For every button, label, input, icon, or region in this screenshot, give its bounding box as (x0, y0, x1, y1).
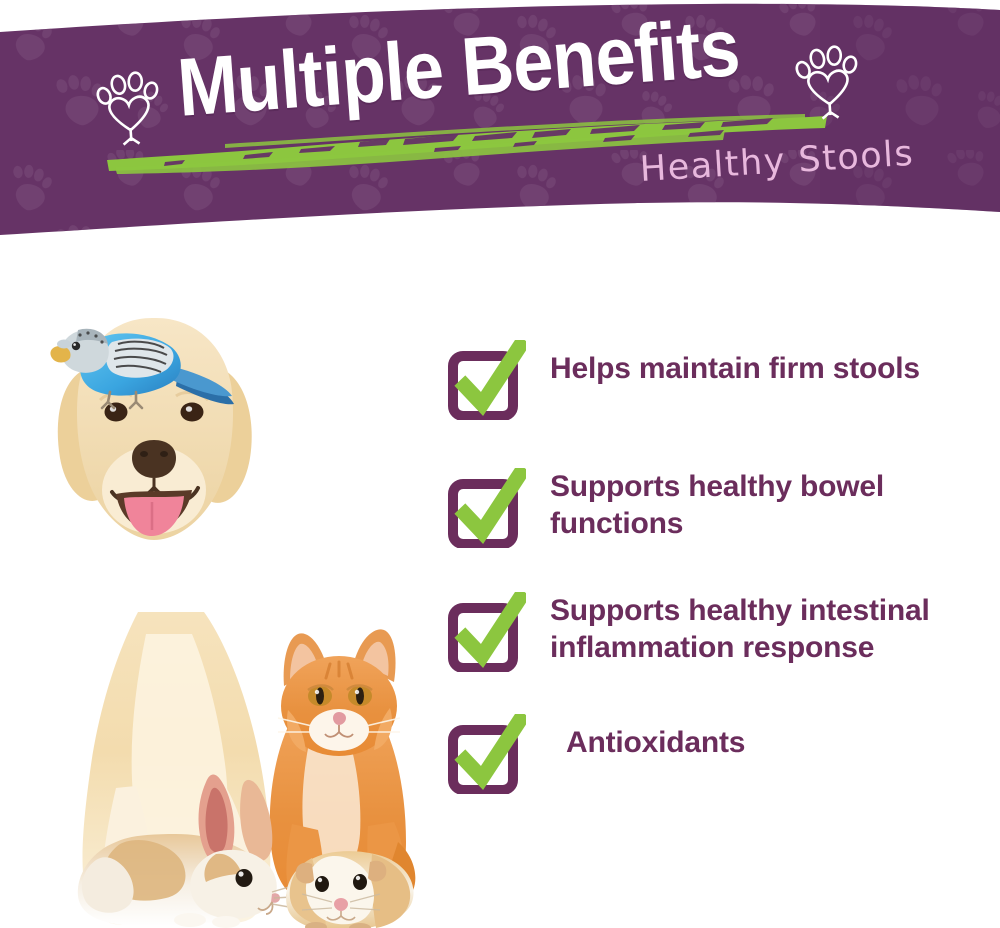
checkbox-checked[interactable] (448, 340, 526, 420)
benefit-item: Supports healthy intestinal inflammation… (448, 588, 993, 684)
benefits-list: Helps maintain firm stools Supports heal… (448, 336, 993, 834)
benefit-item: Antioxidants (448, 710, 993, 806)
banner-ribbon-shape (0, 0, 1000, 250)
checkbox-icon (448, 468, 526, 548)
pets-illustration (20, 282, 440, 928)
benefit-label: Supports healthy bowel functions (526, 464, 993, 542)
header-banner: Multiple Benefits Healthy Stools (0, 0, 1000, 250)
checkbox-icon (448, 592, 526, 672)
checkbox-checked[interactable] (448, 592, 526, 672)
benefit-label: Helps maintain firm stools (526, 336, 920, 387)
product-benefits-infographic: Multiple Benefits Healthy Stools (0, 0, 1000, 928)
pets-group-photo (20, 282, 440, 928)
checkbox-icon (448, 340, 526, 420)
guinea-pig (286, 851, 413, 928)
benefit-label: Supports healthy intestinal inflammation… (526, 588, 993, 666)
benefit-item: Supports healthy bowel functions (448, 464, 993, 560)
benefit-item: Helps maintain firm stools (448, 336, 993, 432)
benefit-label: Antioxidants (526, 710, 745, 761)
checkbox-icon (448, 714, 526, 794)
golden-retriever-dog (58, 318, 271, 925)
checkbox-checked[interactable] (448, 468, 526, 548)
checkbox-checked[interactable] (448, 714, 526, 794)
